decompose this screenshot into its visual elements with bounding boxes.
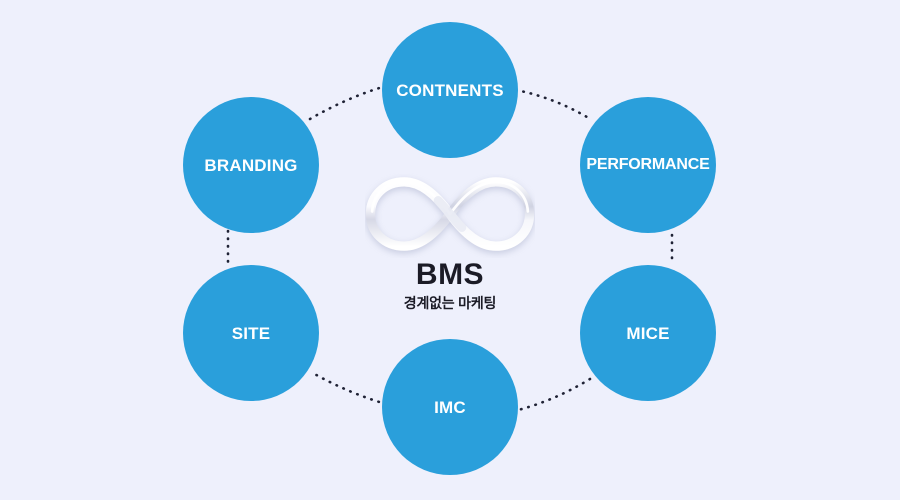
- node-branding[interactable]: BRANDING: [183, 97, 319, 233]
- connector-contnents-performance: [516, 90, 592, 120]
- infinity-icon: [365, 170, 535, 258]
- connector-mice-imc: [514, 379, 590, 411]
- node-imc[interactable]: IMC: [382, 339, 518, 475]
- connector-imc-site: [311, 372, 386, 404]
- node-contnents-label: CONTNENTS: [396, 82, 504, 99]
- node-imc-label: IMC: [434, 399, 466, 416]
- node-site-label: SITE: [232, 325, 271, 342]
- node-branding-label: BRANDING: [204, 157, 297, 174]
- node-mice[interactable]: MICE: [580, 265, 716, 401]
- node-performance-label: PERFORMANCE: [586, 157, 709, 173]
- bms-service-diagram: CONTNENTS PERFORMANCE MICE IMC SITE BRAN…: [0, 0, 900, 500]
- brand-tagline: 경계없는 마케팅: [404, 296, 496, 310]
- node-performance[interactable]: PERFORMANCE: [580, 97, 716, 233]
- node-mice-label: MICE: [626, 325, 669, 342]
- center-brand-block: BMS 경계없는 마케팅: [330, 170, 570, 320]
- connector-branding-contnents: [310, 86, 386, 119]
- node-site[interactable]: SITE: [183, 265, 319, 401]
- brand-name: BMS: [416, 260, 484, 290]
- node-contnents[interactable]: CONTNENTS: [382, 22, 518, 158]
